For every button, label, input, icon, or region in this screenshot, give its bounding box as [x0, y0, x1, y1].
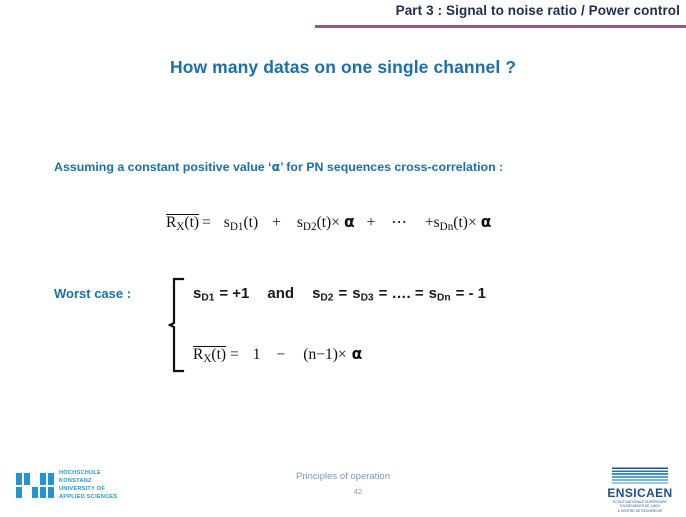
times-sign-2: ×: [331, 214, 340, 231]
ensicaen-subtitle-line-1: ÉCOLE NATIONALE SUPÉRIEURE D'INGÉNIEURS …: [602, 500, 678, 510]
term1-subscript: D1: [230, 221, 244, 233]
rx-argument: (t): [184, 214, 199, 231]
plus-sign-3: +: [425, 214, 434, 231]
htwg-logo: HOCHSCHULE KONSTANZ UNIVERSITY OF APPLIE…: [16, 470, 117, 502]
header-divider-rule: [315, 25, 686, 28]
worst-case-equation-2: RX(t)=1−(n−1)×α: [193, 345, 362, 366]
wc-eq4: = - 1: [456, 285, 486, 302]
page-title: How many datas on one single channel ?: [0, 57, 686, 78]
plus-sign-1: +: [272, 214, 281, 231]
equals-sign: =: [199, 214, 214, 231]
page-number: 42: [343, 487, 373, 496]
ensicaen-wordmark: ENSICAEN: [602, 487, 678, 500]
term1-argument: (t): [243, 214, 258, 231]
wc-sn-base: s: [429, 285, 437, 302]
ensicaen-subtitle-line-2: & CENTRE DE RECHERCHE: [602, 509, 678, 514]
worst-case-equation-1: sD1= +1andsD2=sD3= …. =sDn= - 1: [193, 285, 486, 304]
rx-base: R: [166, 214, 176, 231]
term2-subscript: D2: [303, 221, 317, 233]
wc-s1-subscript: D1: [201, 293, 214, 304]
termn-subscript: Dn: [440, 221, 454, 233]
assumption-suffix-text: ’ for PN sequences cross-correlation :: [280, 160, 503, 174]
wc-s3-base: s: [352, 285, 360, 302]
plus-sign-2: +: [367, 214, 376, 231]
ellipsis: ⋯: [391, 214, 407, 231]
n-minus-one-term: (n−1): [303, 346, 338, 363]
htwg-line-2: KONSTANZ: [59, 478, 117, 486]
main-equation: RX(t)=sD1(t)+sD2(t)×α+⋯+sDn(t)×α: [166, 213, 491, 234]
wc-eq1: = +1: [219, 285, 249, 302]
mean-rx-term: RX(t): [166, 214, 199, 234]
assumption-statement: Assuming a constant positive value ‘α’ f…: [54, 159, 503, 174]
ensicaen-logo: ENSICAEN ÉCOLE NATIONALE SUPÉRIEURE D'IN…: [602, 466, 678, 514]
htwg-mark-icon: [16, 473, 54, 498]
wc-and-word: and: [267, 285, 294, 302]
wc-eq3: = …. =: [379, 285, 424, 302]
htwg-wordmark: HOCHSCHULE KONSTANZ UNIVERSITY OF APPLIE…: [59, 470, 117, 502]
times-sign-n: ×: [468, 214, 477, 231]
htwg-line-1: HOCHSCHULE: [59, 470, 117, 478]
rx2-base: R: [193, 346, 203, 363]
alpha-wc2: α: [352, 345, 363, 363]
minus-sign: −: [277, 346, 286, 363]
alpha-n: α: [481, 213, 492, 231]
wc-eq2: =: [338, 285, 347, 302]
brace-bracket-icon: [168, 277, 186, 373]
constant-one: 1: [253, 346, 261, 363]
wc-sn-subscript: Dn: [437, 293, 451, 304]
header-section-title: Part 3 : Signal to noise ratio / Power c…: [320, 3, 680, 18]
alpha-symbol: α: [272, 159, 281, 174]
assumption-prefix-text: Assuming a constant positive value ‘: [54, 160, 272, 174]
slide-canvas: Part 3 : Signal to noise ratio / Power c…: [0, 0, 686, 517]
worst-case-label: Worst case :: [54, 286, 131, 301]
alpha-2: α: [344, 213, 355, 231]
term2-argument: (t): [317, 214, 332, 231]
times-sign-wc2: ×: [338, 346, 347, 363]
wc-s3-subscript: D3: [361, 293, 374, 304]
htwg-line-3: UNIVERSITY OF: [59, 486, 117, 494]
rx2-argument: (t): [211, 346, 226, 363]
mean-rx-term-2: RX(t): [193, 346, 226, 366]
ensicaen-stripes-icon: [612, 466, 668, 486]
wc-s2-subscript: D2: [320, 293, 333, 304]
termn-argument: (t): [453, 214, 468, 231]
equals-sign-2: =: [230, 346, 239, 363]
htwg-line-4: APPLIED SCIENCES: [59, 494, 117, 502]
